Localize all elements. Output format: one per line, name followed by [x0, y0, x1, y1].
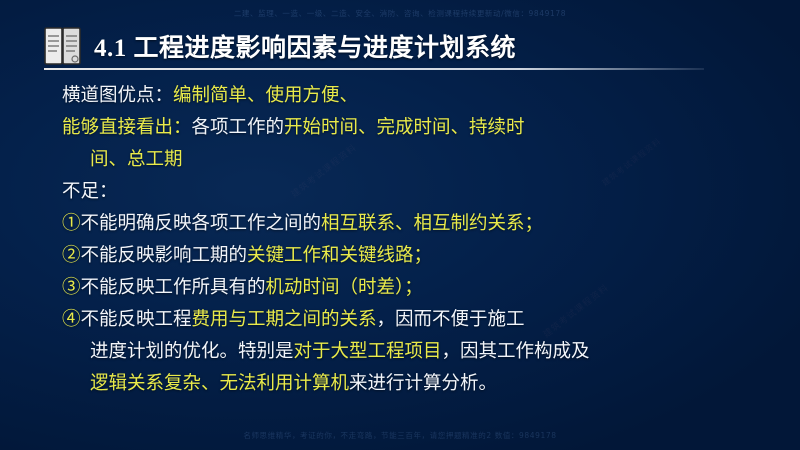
line-advantages-2: 能够直接看出：各项工作的开始时间、完成时间、持续时 — [62, 112, 762, 144]
line-item-3: ③不能反映工作所具有的机动时间（时差）； — [62, 272, 762, 304]
line-item-4-seg-2: 费用与工期之间的关系 — [192, 310, 377, 330]
line-advantages-1-seg-1: 编制简单、使用方便、 — [173, 86, 358, 106]
slide-title-row: 4.1 工程进度影响因素与进度计划系统 — [44, 26, 516, 66]
line-advantages-1-seg-0: 横道图优点： — [62, 86, 173, 106]
line-item-1-seg-2: 相互联系、相互制约关系； — [321, 214, 543, 234]
line-item-2-seg-2: 关键工作和关键线路； — [247, 246, 432, 266]
line-advantages-1: 横道图优点：编制简单、使用方便、 — [62, 80, 762, 112]
line-advantages-2-wrap: 间、总工期 — [62, 144, 762, 176]
title-underline — [44, 68, 704, 70]
line-item-4-seg-1: 不能反映工程 — [81, 310, 192, 330]
line-item-1: ①不能明确反映各项工作之间的相互联系、相互制约关系； — [62, 208, 762, 240]
line-advantages-2-seg-2: 开始时间、完成时间、持续时 — [284, 118, 525, 138]
line-shortcomings-head-seg-0: 不足： — [62, 182, 118, 202]
line-item-4-seg-0: ④ — [62, 310, 81, 330]
line-item-3-seg-1: 不能反映工作所具有的 — [81, 278, 266, 298]
line-item-3-seg-2: 机动时间（时差）； — [266, 278, 423, 298]
line-item-2-seg-1: 不能反映影响工期的 — [81, 246, 248, 266]
slide-body: 横道图优点：编制简单、使用方便、能够直接看出：各项工作的开始时间、完成时间、持续… — [62, 80, 762, 400]
line-item-4-wrap-2: 逻辑关系复杂、无法利用计算机来进行计算分析。 — [62, 368, 762, 400]
line-item-1-seg-0: ① — [62, 214, 81, 234]
presentation-slide: 二建、监理、一造、一级、二造、安全、消防、咨询、检测课程持续更新动/微信：984… — [0, 0, 800, 450]
line-item-3-seg-0: ③ — [62, 278, 81, 298]
line-advantages-2-seg-1: 各项工作的 — [192, 118, 285, 138]
line-item-2: ②不能反映影响工期的关键工作和关键线路； — [62, 240, 762, 272]
line-item-4-wrap-1-seg-2: ，因其工作构成及 — [442, 342, 590, 362]
book-icon — [44, 26, 94, 66]
line-item-4-seg-3: ，因而不便于施工 — [377, 310, 525, 330]
page-title: 4.1 工程进度影响因素与进度计划系统 — [94, 28, 516, 64]
line-item-4: ④不能反映工程费用与工期之间的关系，因而不便于施工 — [62, 304, 762, 336]
line-item-1-seg-1: 不能明确反映各项工作之间的 — [81, 214, 322, 234]
line-item-4-wrap-1-seg-1: 对于大型工程项目 — [294, 342, 442, 362]
line-item-2-seg-0: ② — [62, 246, 81, 266]
line-item-4-wrap-2-seg-1: 来进行计算分析。 — [349, 374, 497, 394]
line-advantages-2-wrap-seg-0: 间、总工期 — [90, 150, 183, 170]
line-item-4-wrap-2-seg-0: 逻辑关系复杂、无法利用计算机 — [90, 374, 349, 394]
watermark-bottom: 名师思维精华，考证的你，不走弯路，节能三百年，请您押题精准的2 数值：98491… — [0, 430, 800, 441]
watermark-top: 二建、监理、一造、一级、二造、安全、消防、咨询、检测课程持续更新动/微信：984… — [0, 8, 800, 19]
line-shortcomings-head: 不足： — [62, 176, 762, 208]
line-item-4-wrap-1-seg-0: 进度计划的优化。特别是 — [90, 342, 294, 362]
line-item-4-wrap-1: 进度计划的优化。特别是对于大型工程项目，因其工作构成及 — [62, 336, 762, 368]
line-advantages-2-seg-0: 能够直接看出： — [62, 118, 192, 138]
